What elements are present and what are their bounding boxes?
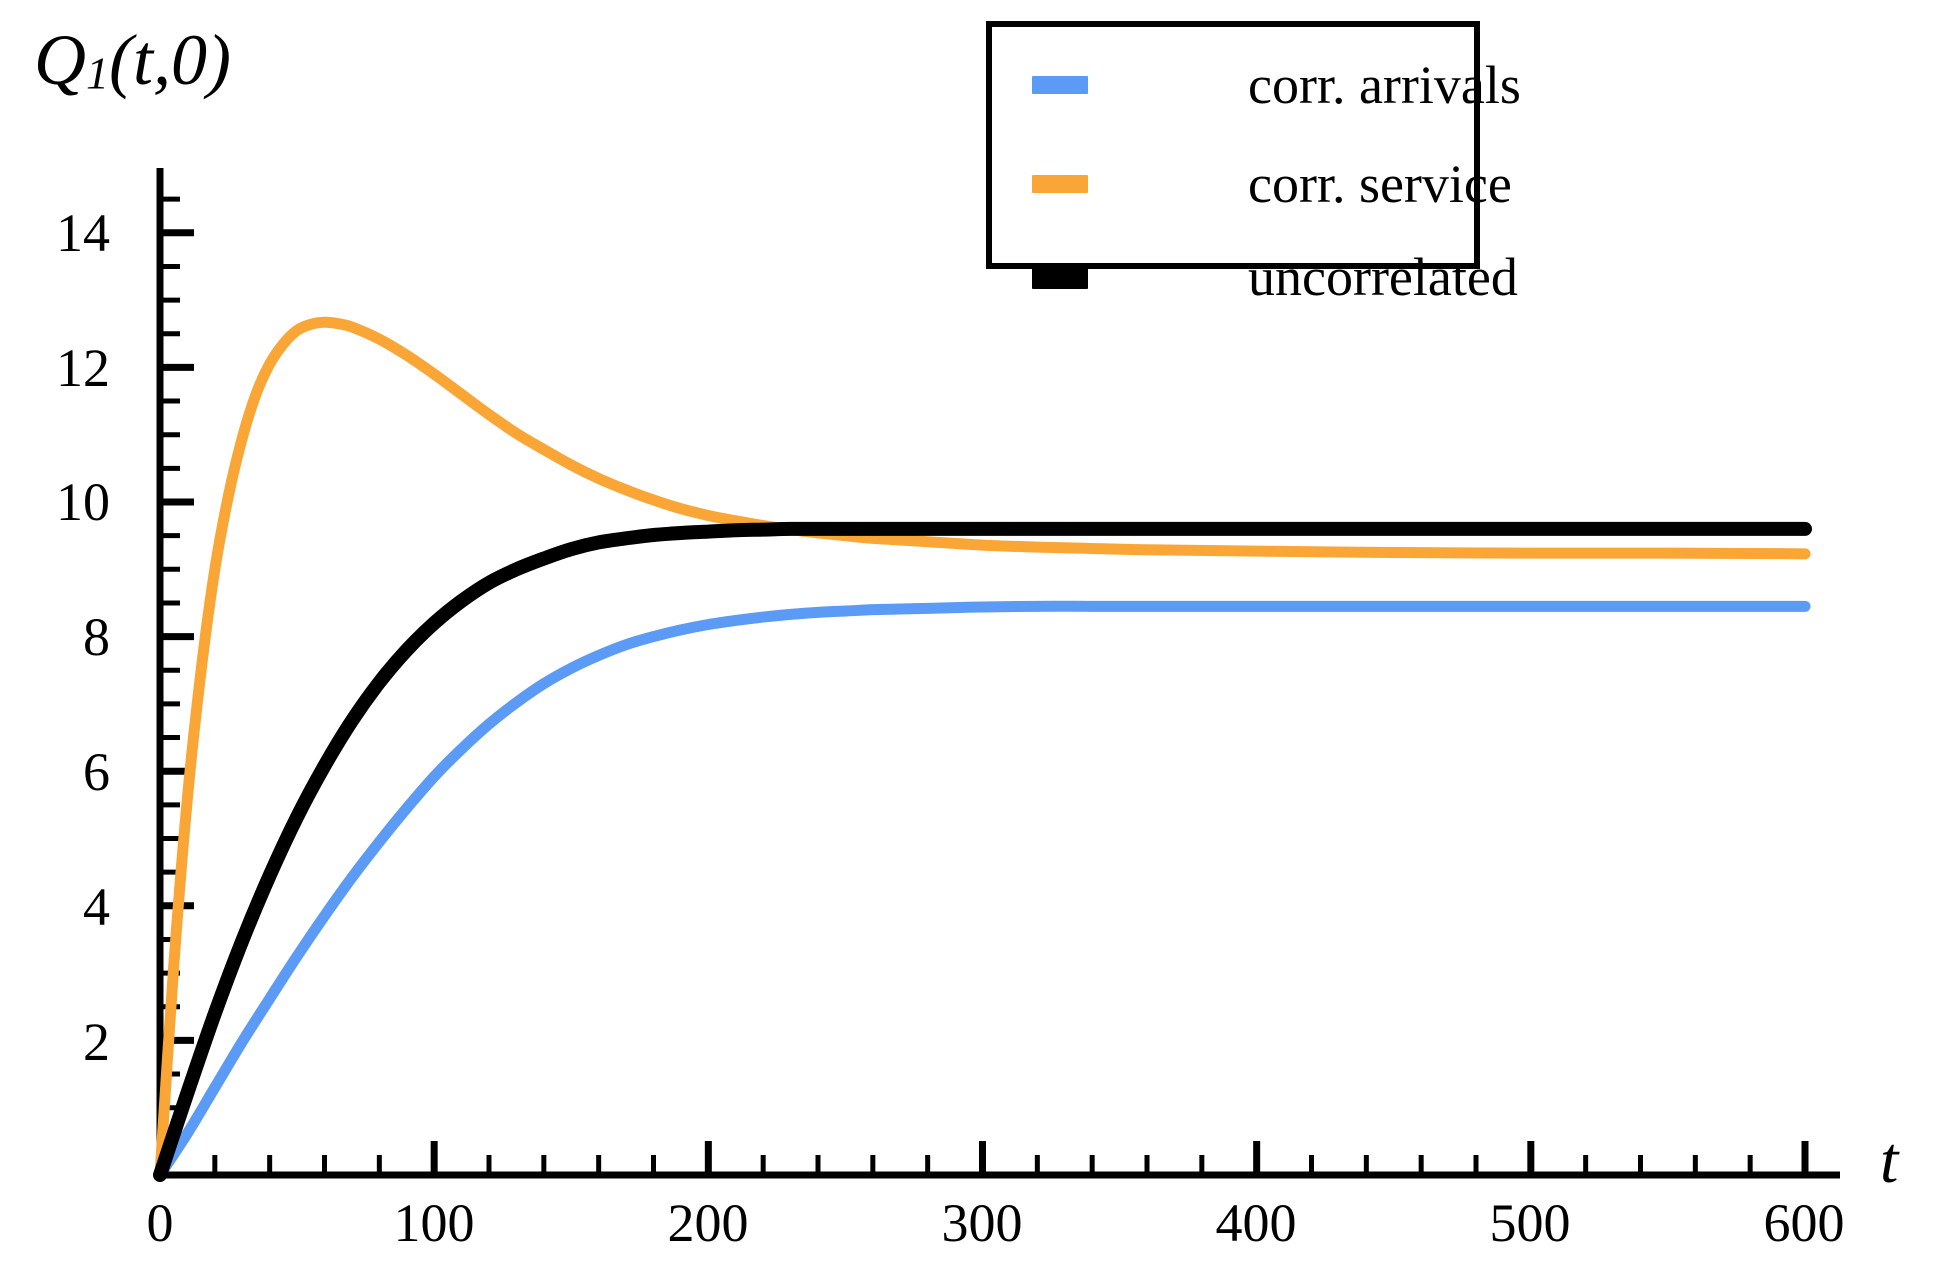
legend-label-corr-arrivals: corr. arrivals [1248, 58, 1521, 112]
legend-swatch-uncorrelated [1032, 265, 1088, 289]
legend-box: corr. arrivals corr. service uncorrelate… [986, 21, 1480, 269]
plot-canvas [0, 0, 1937, 1275]
legend-swatch-corr-arrivals [1032, 76, 1088, 94]
legend-item-corr-service[interactable]: corr. service [992, 154, 1474, 214]
legend-label-uncorrelated: uncorrelated [1248, 250, 1518, 304]
series-line-uncorrelated [160, 529, 1805, 1175]
series-line-corr-service [160, 322, 1805, 1175]
legend-item-uncorrelated[interactable]: uncorrelated [992, 247, 1474, 307]
series-line-corr-arrivals [160, 606, 1805, 1175]
legend-label-corr-service: corr. service [1248, 157, 1512, 211]
axis-ticks [160, 199, 1805, 1175]
legend-swatch-corr-service [1032, 175, 1088, 193]
axis-lines [160, 168, 1840, 1175]
legend-item-corr-arrivals[interactable]: corr. arrivals [992, 55, 1474, 115]
chart-figure: Q1(t,0) t 2 4 6 8 10 12 14 0 100 200 300… [0, 0, 1937, 1275]
data-series-layer [160, 322, 1805, 1175]
